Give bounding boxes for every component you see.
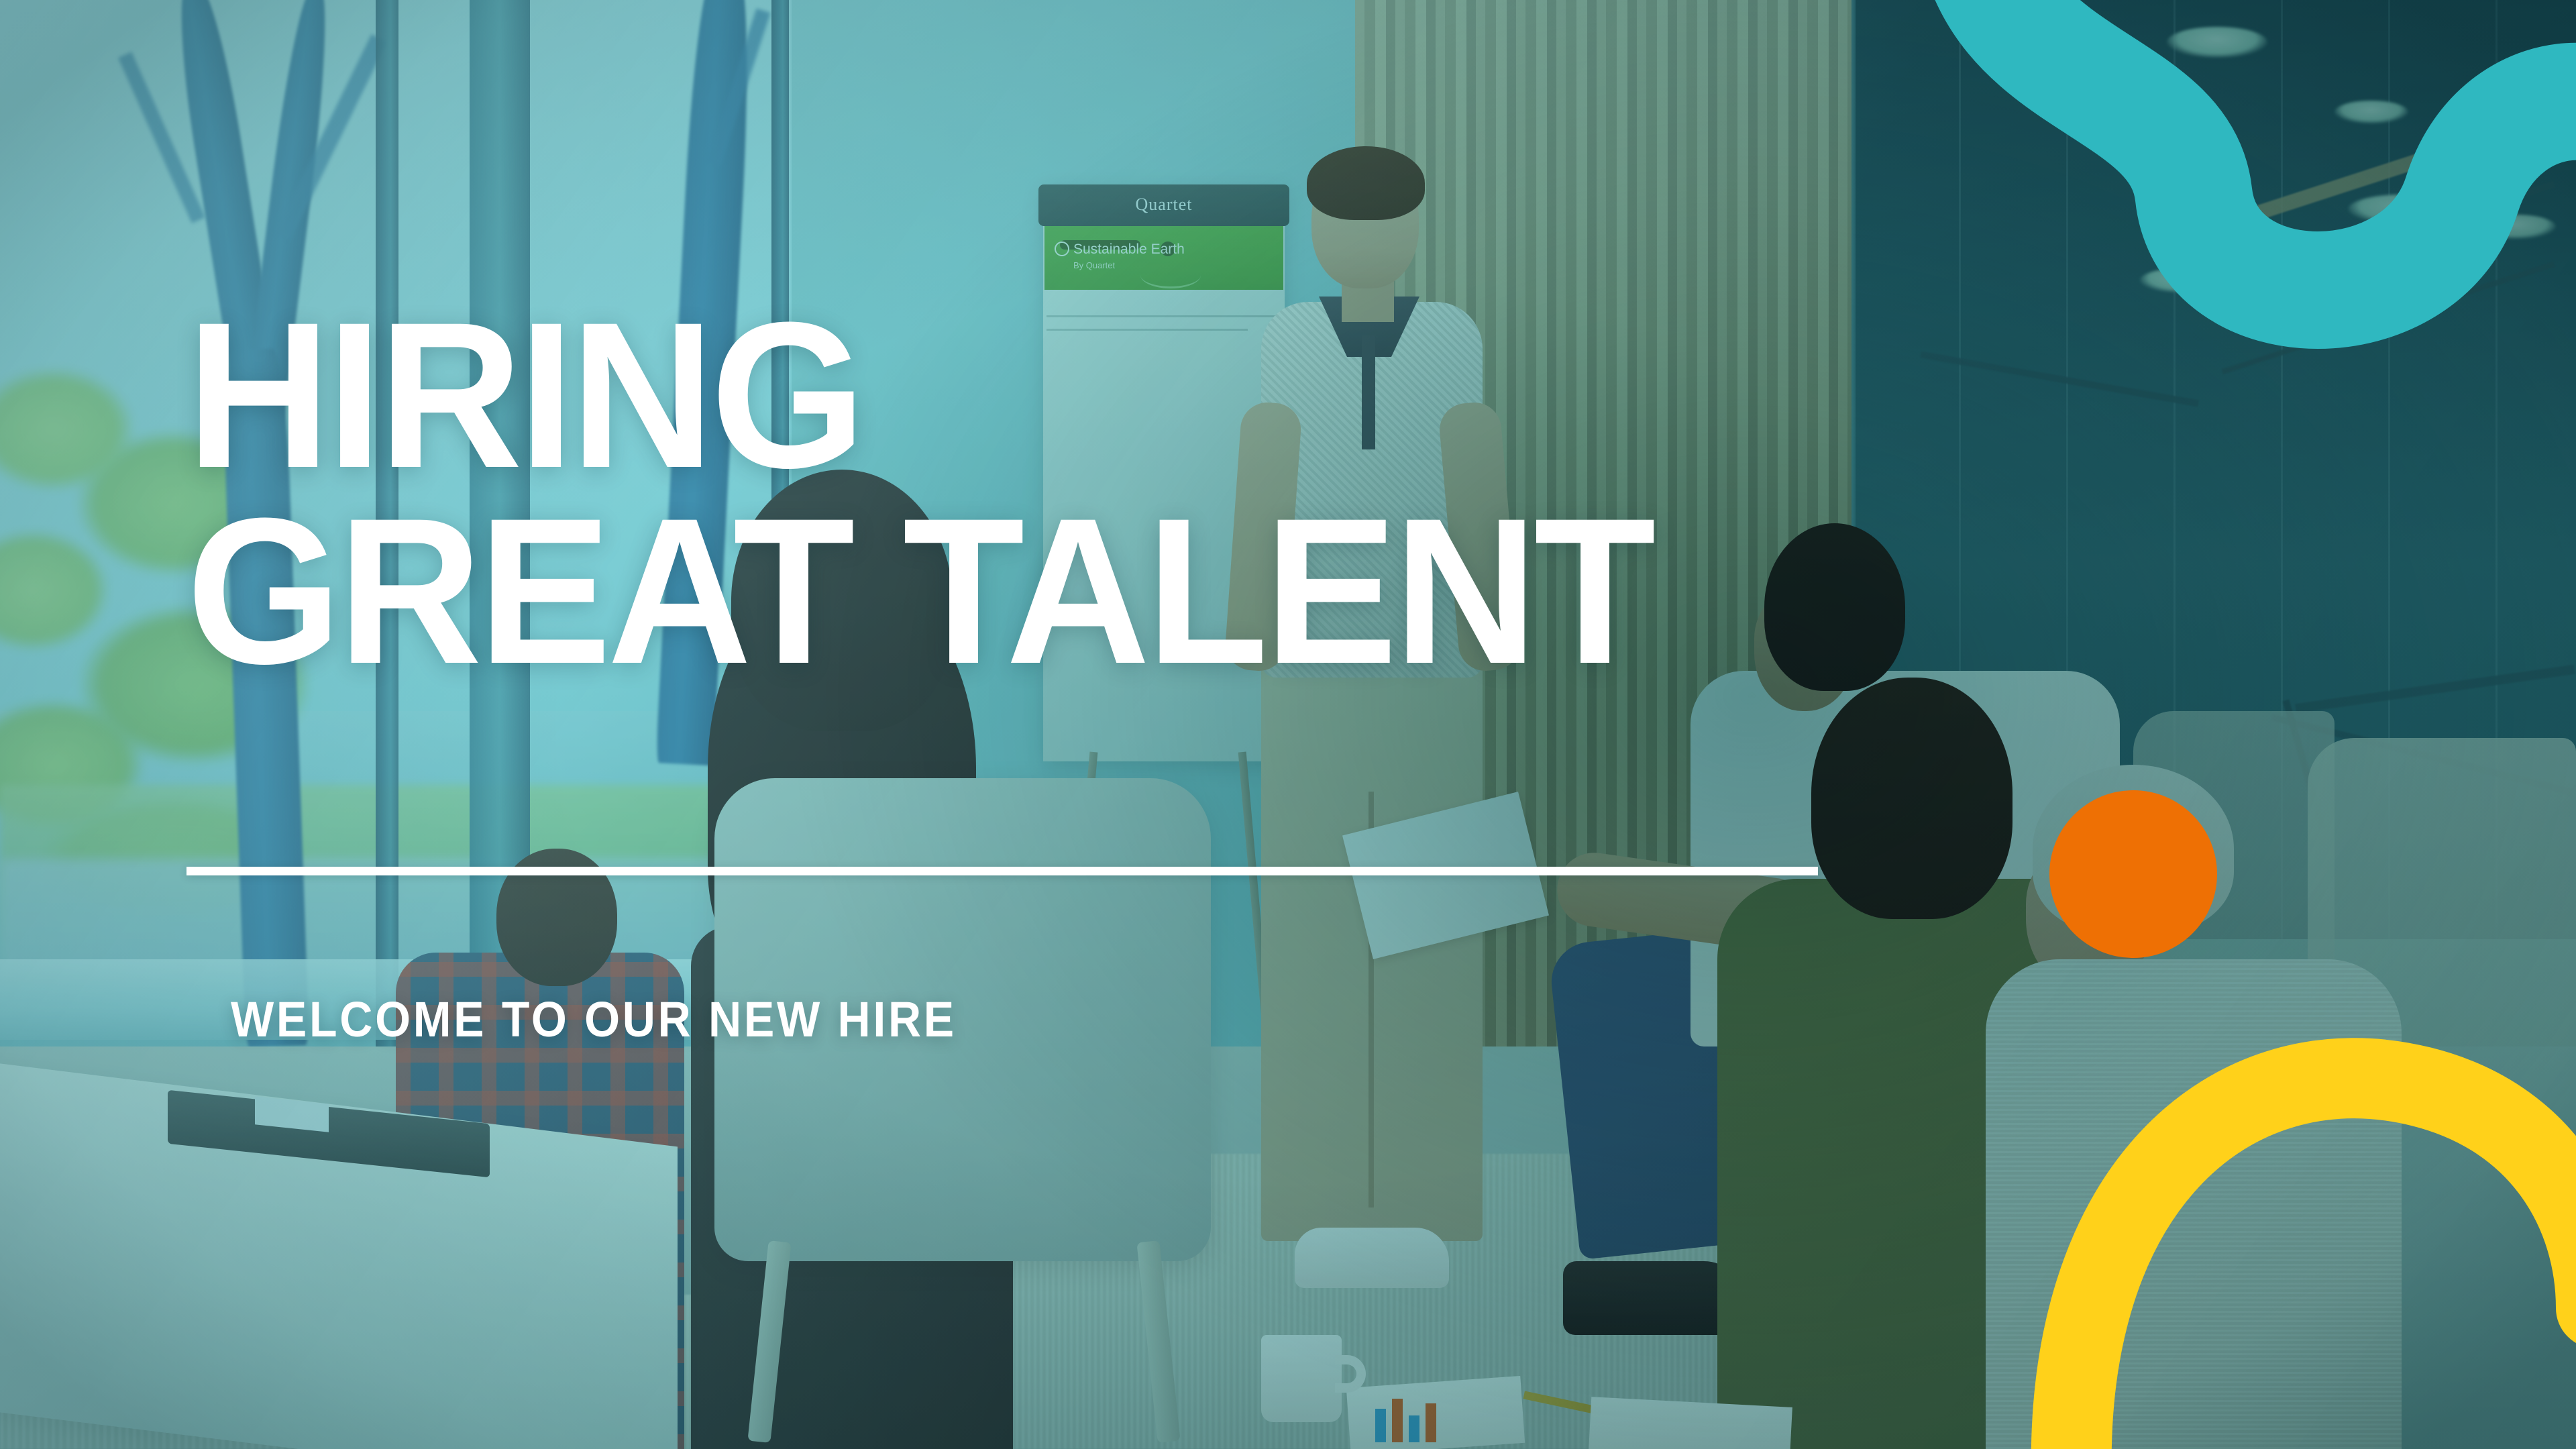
hiring-banner: Quartet Sustainable Earth By Quartet [0,0,2576,1449]
headline-line-1: HIRING [186,295,1652,495]
page-title: HIRING GREAT TALENT [186,295,1652,690]
text-content: HIRING GREAT TALENT WELCOME TO OUR NEW H… [0,0,2576,1449]
divider-rule [186,867,1818,875]
headline-line-2: GREAT TALENT [186,491,1652,691]
subtitle: WELCOME TO OUR NEW HIRE [231,991,957,1048]
